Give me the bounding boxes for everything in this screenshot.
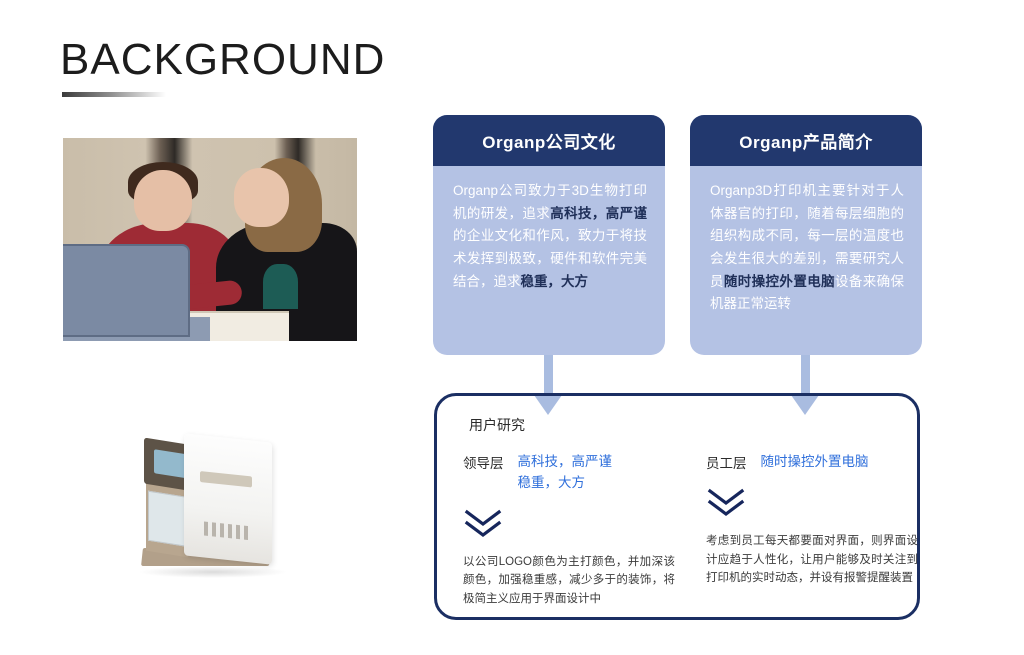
- double-chevron-down-icon-staff: [706, 487, 746, 517]
- people-at-laptop-photo: [63, 138, 357, 341]
- staff-row: 员工层 随时操控外置电脑: [706, 452, 921, 473]
- leaders-row: 领导层 高科技，高严谨稳重，大方: [463, 452, 678, 494]
- photo-man-head: [134, 170, 193, 231]
- connector-stem-left: [544, 355, 553, 379]
- device-screen: [154, 449, 186, 478]
- staff-tier-label: 员工层: [706, 452, 747, 472]
- card-culture-body: Organp公司致力于3D生物打印机的研发，追求高科技，高严谨的企业文化和作风，…: [433, 166, 665, 303]
- card-product-body: Organp3D打印机主要针对于人体器官的打印，随着每层细胞的组织构成不同，每一…: [690, 166, 922, 326]
- page-title: BACKGROUND: [60, 38, 385, 82]
- device-shadow: [138, 566, 288, 578]
- device-vent-grille: [204, 521, 250, 540]
- card-product-header: Organp产品简介: [690, 115, 922, 166]
- photo-laptop-lid: [63, 244, 190, 337]
- connector-stem-right: [801, 355, 810, 379]
- device-main-body: [184, 433, 272, 564]
- photo-woman-head: [234, 168, 290, 227]
- leaders-note: 以公司LOGO颜色为主打颜色，并加深该颜色，加强稳重感，减少多于的装饰，将极简主…: [463, 553, 675, 609]
- research-column-staff: 员工层 随时操控外置电脑 考虑到员工每天都要面对界面，则界面设计应趋于人性化，让…: [706, 452, 921, 588]
- card-product-intro[interactable]: Organp产品简介 Organp3D打印机主要针对于人体器官的打印，随着每层细…: [690, 115, 922, 355]
- staff-note: 考虑到员工每天都要面对界面，则界面设计应趋于人性化，让用户能够及时关注到打印机的…: [706, 532, 918, 588]
- double-chevron-down-icon-leaders: [463, 508, 503, 538]
- photo-woman-top: [263, 264, 298, 309]
- title-underline-rule: [62, 92, 166, 97]
- research-column-leaders: 领导层 高科技，高严谨稳重，大方 以公司LOGO颜色为主打颜色，并加深该颜色，加…: [463, 452, 678, 609]
- user-research-title: 用户研究: [469, 415, 525, 435]
- leaders-tier-label: 领导层: [463, 452, 504, 472]
- card-culture-header: Organp公司文化: [433, 115, 665, 166]
- leaders-keywords: 高科技，高严谨稳重，大方: [518, 452, 613, 494]
- bioprinter-device-photo: [128, 428, 310, 588]
- staff-keywords: 随时操控外置电脑: [761, 452, 869, 473]
- card-company-culture[interactable]: Organp公司文化 Organp公司致力于3D生物打印机的研发，追求高科技，高…: [433, 115, 665, 355]
- device-brand-label: [200, 471, 252, 487]
